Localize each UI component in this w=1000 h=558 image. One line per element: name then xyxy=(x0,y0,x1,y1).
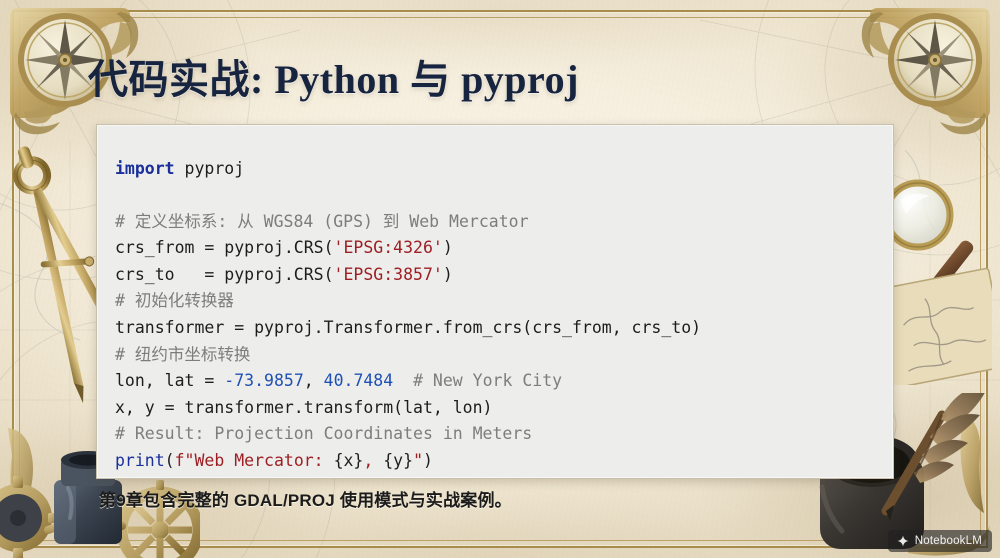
code-token-cmt: # 初始化转换器 xyxy=(115,291,234,310)
code-token-str: " xyxy=(413,451,423,470)
code-line: # Result: Projection Coordinates in Mete… xyxy=(115,421,875,448)
code-token-pln: crs_from = pyproj.CRS( xyxy=(115,238,334,257)
code-token-str: 'EPSG:3857' xyxy=(334,265,443,284)
code-token-pln xyxy=(393,371,413,390)
code-token-num: -73.9857 xyxy=(224,371,303,390)
code-token-pln: pyproj xyxy=(175,159,245,178)
code-line: transformer = pyproj.Transformer.from_cr… xyxy=(115,315,875,342)
code-line: # 定义坐标系: 从 WGS84 (GPS) 到 Web Mercator xyxy=(115,209,875,236)
code-token-pln: transformer = pyproj.Transformer.from_cr… xyxy=(115,318,701,337)
code-token-cmt: # 纽约市坐标转换 xyxy=(115,345,250,364)
code-token-pln: x, y = transformer.transform(lat, lon) xyxy=(115,398,493,417)
code-line: print(f"Web Mercator: {x}, {y}") xyxy=(115,448,875,475)
code-line: x, y = transformer.transform(lat, lon) xyxy=(115,395,875,422)
code-token-pln: ) xyxy=(443,238,453,257)
code-token-pln: {y} xyxy=(383,451,413,470)
code-token-cmt: # Result: Projection Coordinates in Mete… xyxy=(115,424,532,443)
page-title: 代码实战: Python 与 pyproj xyxy=(88,58,579,103)
code-token-str: 'EPSG:4326' xyxy=(334,238,443,257)
code-token-fn: print xyxy=(115,451,165,470)
code-line: lon, lat = -73.9857, 40.7484 # New York … xyxy=(115,368,875,395)
code-token-cmt: # New York City xyxy=(413,371,562,390)
code-token-pln: ( xyxy=(165,451,175,470)
code-token-kw: import xyxy=(115,159,175,178)
code-line: crs_from = pyproj.CRS('EPSG:4326') xyxy=(115,235,875,262)
code-block: import pyproj # 定义坐标系: 从 WGS84 (GPS) 到 W… xyxy=(96,124,894,479)
code-token-pln: lon, lat = xyxy=(115,371,224,390)
code-line xyxy=(115,182,875,209)
code-line: crs_to = pyproj.CRS('EPSG:3857') xyxy=(115,262,875,289)
code-token-pln: , xyxy=(304,371,324,390)
code-line: # 纽约市坐标转换 xyxy=(115,342,875,369)
code-line: import pyproj xyxy=(115,156,875,183)
code-token-pln: ) xyxy=(443,265,453,284)
slide-canvas: 代码实战: Python 与 pyproj import pyproj # 定义… xyxy=(0,0,1000,558)
code-token-cmt: # 定义坐标系: 从 WGS84 (GPS) 到 Web Mercator xyxy=(115,212,529,231)
code-content: import pyproj # 定义坐标系: 从 WGS84 (GPS) 到 W… xyxy=(115,156,875,475)
code-token-num: 40.7484 xyxy=(324,371,394,390)
code-token-pln: ) xyxy=(423,451,433,470)
notebooklm-watermark: NotebookLM xyxy=(888,530,992,552)
code-line: # 初始化转换器 xyxy=(115,288,875,315)
code-token-pln: crs_to = pyproj.CRS( xyxy=(115,265,334,284)
code-token-str: , xyxy=(363,451,383,470)
watermark-label: NotebookLM xyxy=(915,535,982,547)
code-token-str: f"Web Mercator: xyxy=(175,451,334,470)
code-token-pln: {x} xyxy=(334,451,364,470)
notebooklm-spark-icon xyxy=(896,534,910,548)
caption-text: 第9章包含完整的 GDAL/PROJ 使用模式与实战案例。 xyxy=(99,486,512,511)
